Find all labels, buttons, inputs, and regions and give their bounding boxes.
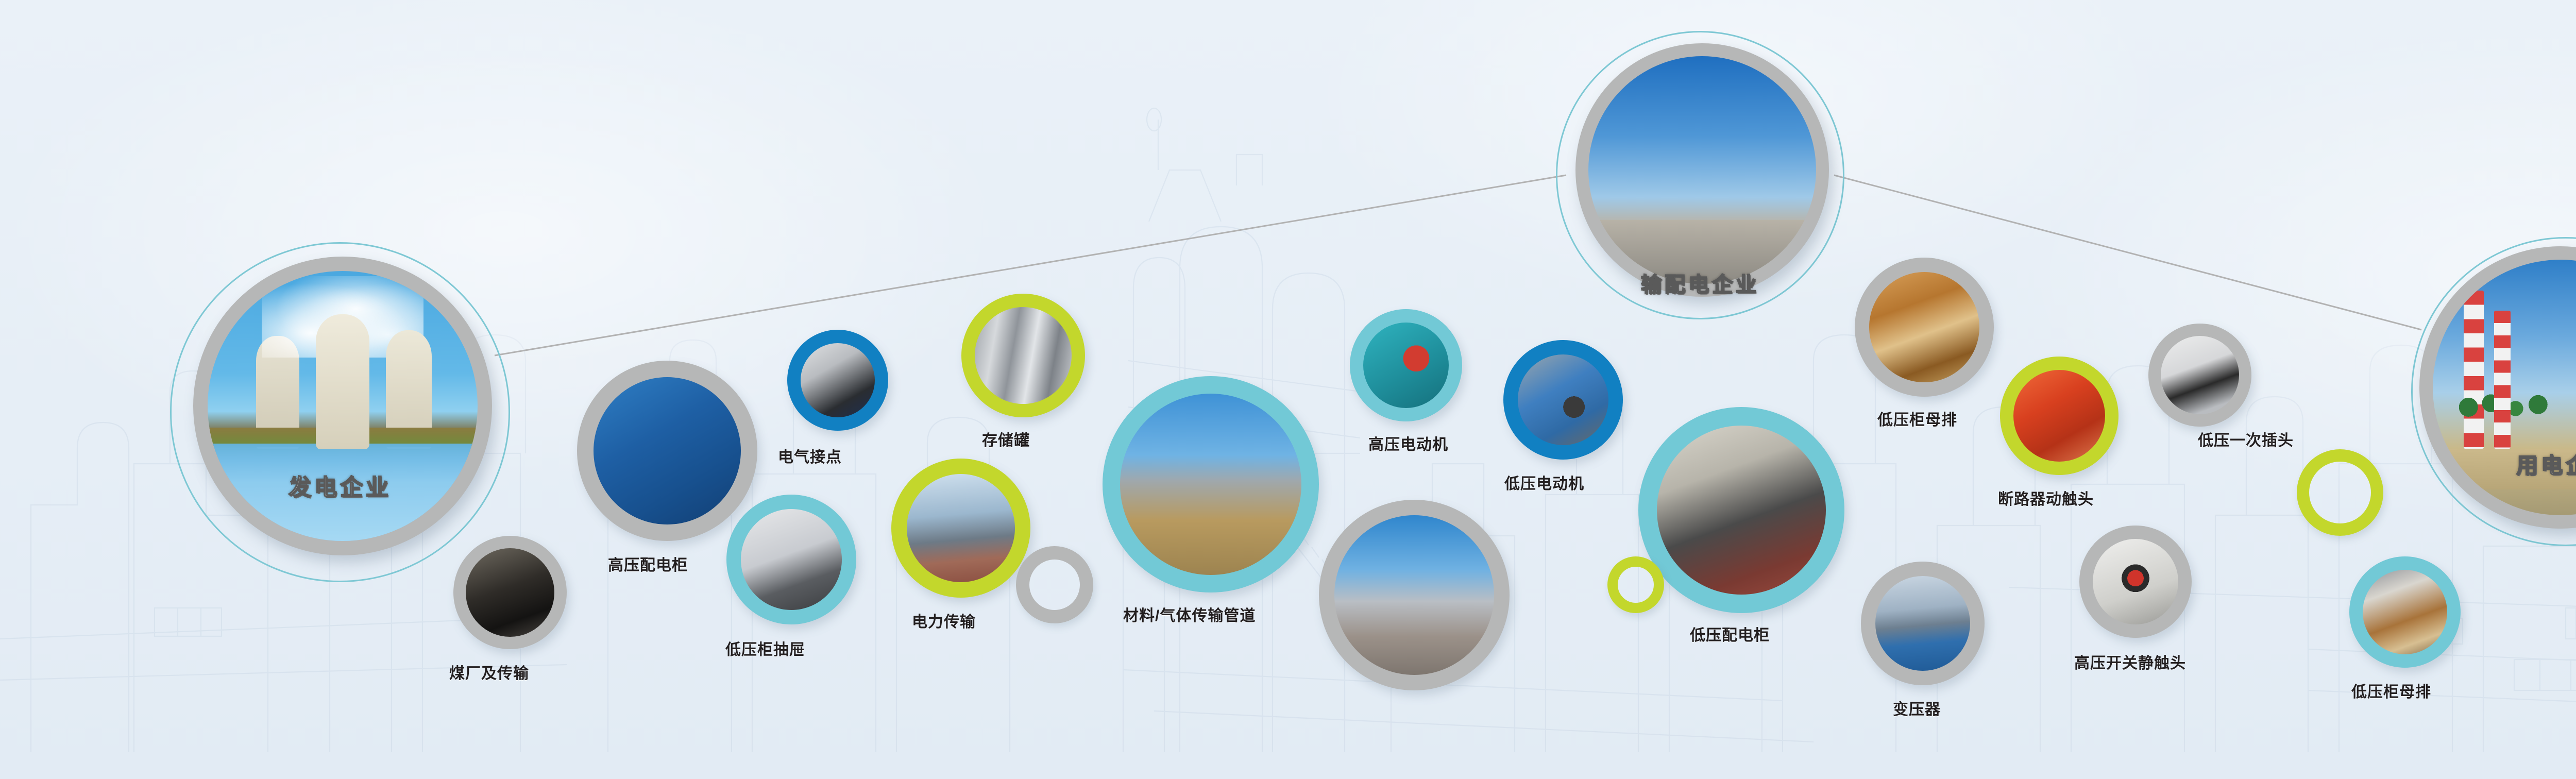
hero-node-generation[interactable]: 发电企业 (170, 242, 510, 582)
node-label-tank: 存储罐 (982, 428, 1030, 450)
node-pipeline[interactable]: 材料/气体传输管道 (1103, 376, 1319, 592)
ring-teal (1638, 407, 1844, 613)
ring-gray (1855, 258, 1994, 397)
photo-hv-transmission-yard (907, 474, 1015, 582)
node-lv-panel[interactable]: 低压配电柜 (1638, 407, 1844, 613)
node-tank[interactable]: 存储罐 (961, 294, 1085, 417)
node-hv-static[interactable]: 高压开关静触头 (2079, 526, 2192, 638)
node-empty-gray-1[interactable] (1016, 546, 1093, 623)
ring-green-hollow (2297, 449, 2383, 536)
ring-gray (1319, 500, 1510, 690)
node-label-lv-plug: 低压一次插头 (2198, 428, 2294, 450)
node-label-transmit: 电力传输 (912, 609, 976, 632)
node-label-hv-motor: 高压电动机 (1368, 432, 1448, 454)
node-label-transformer: 变压器 (1893, 697, 1941, 719)
photo-lv-distribution-room (1657, 426, 1826, 595)
node-hv-motor[interactable]: 高压电动机 (1350, 309, 1462, 421)
photo-copper-busbar (1869, 272, 1979, 382)
photo-power-plant-cooling-towers (208, 271, 478, 541)
photo-substation-switchyard (1588, 56, 1816, 284)
ring-gray (2148, 324, 2251, 427)
photo-primary-plug (2161, 336, 2239, 414)
photo-lv-motor (1518, 354, 1608, 445)
photo-outdoor-transformer (1875, 576, 1970, 671)
ring-gray (1861, 562, 1985, 685)
ring-green-hollow (1607, 556, 1664, 613)
node-busbar[interactable]: 低压柜母排 (1855, 258, 1994, 397)
photo-lv-busbar-breakers (2363, 570, 2447, 654)
ring-gray (453, 536, 567, 649)
photo-coal-conveyor (466, 548, 554, 637)
node-label-hv-static: 高压开关静触头 (2074, 650, 2186, 673)
node-label-pipeline: 材料/气体传输管道 (1123, 603, 1256, 625)
photo-breaker-contacts (2013, 370, 2105, 462)
node-lv-plug[interactable]: 低压一次插头 (2148, 324, 2251, 427)
node-label-contact: 电气接点 (778, 444, 842, 467)
node-plant2[interactable] (1319, 500, 1510, 690)
infographic-canvas: 发电企业 输配电企业 用电企业 煤厂及传输 高压配电柜 低压柜抽屉 (0, 0, 2576, 779)
node-transformer[interactable]: 变压器 (1861, 562, 1985, 685)
photo-hv-static-contacts (2093, 539, 2178, 624)
node-coal[interactable]: 煤厂及传输 (453, 536, 567, 649)
node-lv-drawer[interactable]: 低压柜抽屉 (726, 495, 856, 624)
node-label-lv-panel: 低压配电柜 (1690, 622, 1770, 645)
ring-teal (1103, 376, 1319, 592)
hero-node-consumption[interactable]: 用电企业 (2411, 237, 2576, 546)
node-contact[interactable]: 电气接点 (787, 330, 888, 431)
hero-node-transmission[interactable]: 输配电企业 (1556, 31, 1844, 319)
ring-teal (726, 495, 856, 624)
ring-green (961, 294, 1085, 417)
ring-blue (1503, 340, 1623, 460)
node-lv-motor[interactable]: 低压电动机 (1503, 340, 1623, 460)
ring-teal (2349, 556, 2461, 668)
photo-hv-motor (1363, 323, 1449, 408)
ring-green (2000, 357, 2119, 475)
photo-storage-silos (975, 307, 1072, 404)
node-empty-green-1[interactable] (1607, 556, 1664, 613)
node-breaker[interactable]: 断路器动触头 (2000, 357, 2119, 475)
photo-terminal-block (801, 343, 875, 417)
node-label-breaker: 断路器动触头 (1998, 486, 2094, 509)
node-busbar2[interactable]: 低压柜母排 (2349, 556, 2461, 668)
node-label-busbar: 低压柜母排 (1877, 407, 1957, 430)
node-label-coal: 煤厂及传输 (449, 661, 529, 683)
node-label-lv-motor: 低压电动机 (1504, 471, 1584, 494)
photo-chemical-plant (1334, 515, 1494, 675)
ring-teal (1350, 309, 1462, 421)
node-label-busbar2: 低压柜母排 (2351, 679, 2431, 702)
ring-blue (787, 330, 888, 431)
node-label-lv-drawer: 低压柜抽屉 (725, 637, 805, 659)
photo-pipe-rack (1120, 394, 1301, 575)
ring-gray-hollow (1016, 546, 1093, 623)
node-label-hv-cabinet: 高压配电柜 (608, 552, 688, 575)
photo-lv-cabinet-drawer (741, 509, 842, 610)
ring-gray (2079, 526, 2192, 638)
ring-green (891, 459, 1030, 598)
photo-hv-switchgear (594, 377, 741, 524)
node-empty-green-2[interactable] (2297, 449, 2383, 536)
node-transmit[interactable]: 电力传输 (891, 459, 1030, 598)
